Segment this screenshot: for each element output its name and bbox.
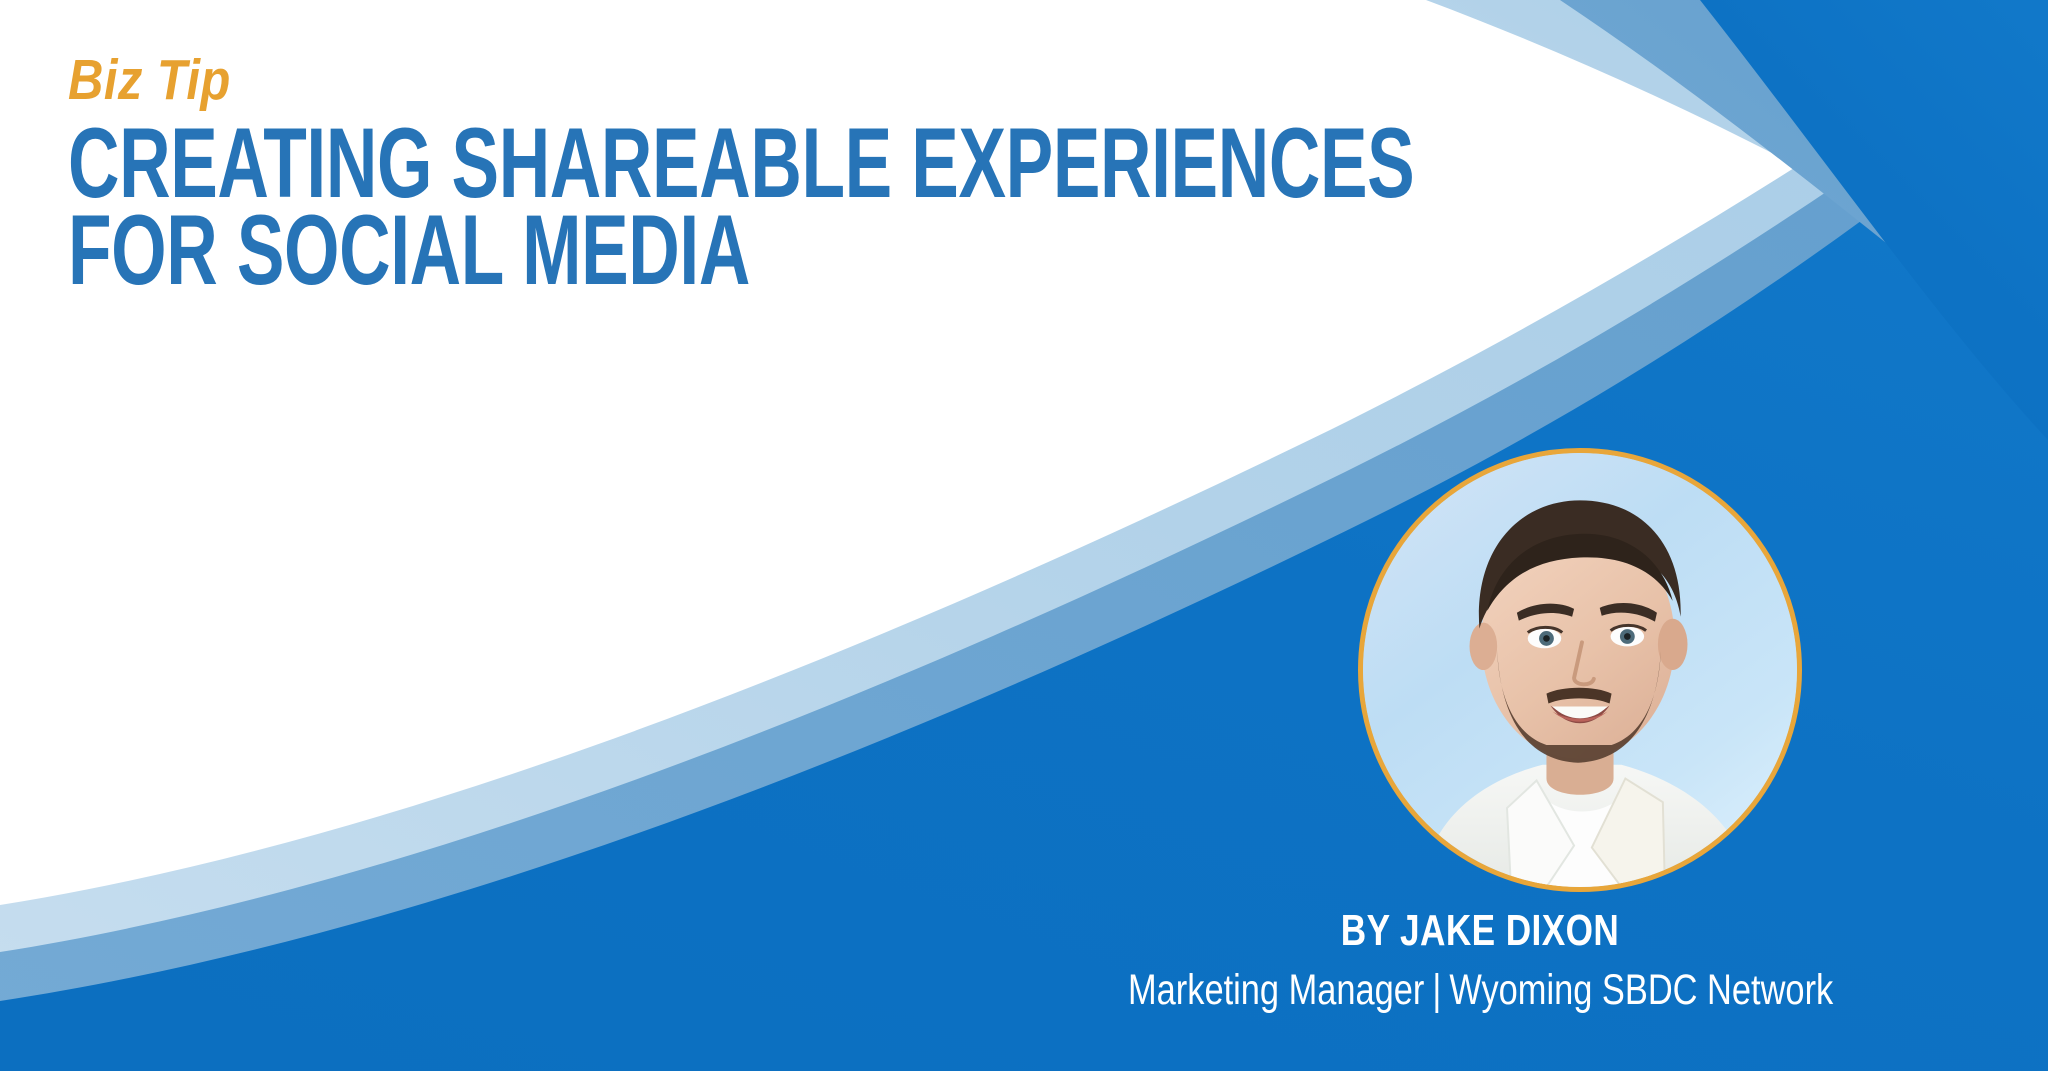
avatar bbox=[1358, 448, 1802, 892]
byline-job-title: Marketing Manager bbox=[1128, 966, 1424, 1014]
page-title: CREATING SHAREABLE EXPERIENCES FOR SOCIA… bbox=[68, 119, 918, 293]
headline-block: Biz Tip CREATING SHAREABLE EXPERIENCES F… bbox=[68, 52, 1248, 293]
slide-canvas: Biz Tip CREATING SHAREABLE EXPERIENCES F… bbox=[0, 0, 2048, 1071]
byline-organization: Wyoming SBDC Network bbox=[1449, 966, 1833, 1014]
byline-role-line: Marketing Manager|Wyoming SBDC Network bbox=[1128, 966, 1832, 1015]
eyebrow-label: Biz Tip bbox=[68, 52, 1083, 109]
avatar-photo-icon bbox=[1363, 453, 1797, 887]
byline: BY JAKE DIXON Marketing Manager|Wyoming … bbox=[1040, 908, 1920, 1016]
byline-separator: | bbox=[1424, 966, 1449, 1014]
page-title-line-1: CREATING SHAREABLE EXPERIENCES bbox=[68, 119, 918, 206]
page-title-line-2: FOR SOCIAL MEDIA bbox=[68, 206, 918, 293]
byline-author: BY JAKE DIXON bbox=[1128, 908, 1832, 954]
